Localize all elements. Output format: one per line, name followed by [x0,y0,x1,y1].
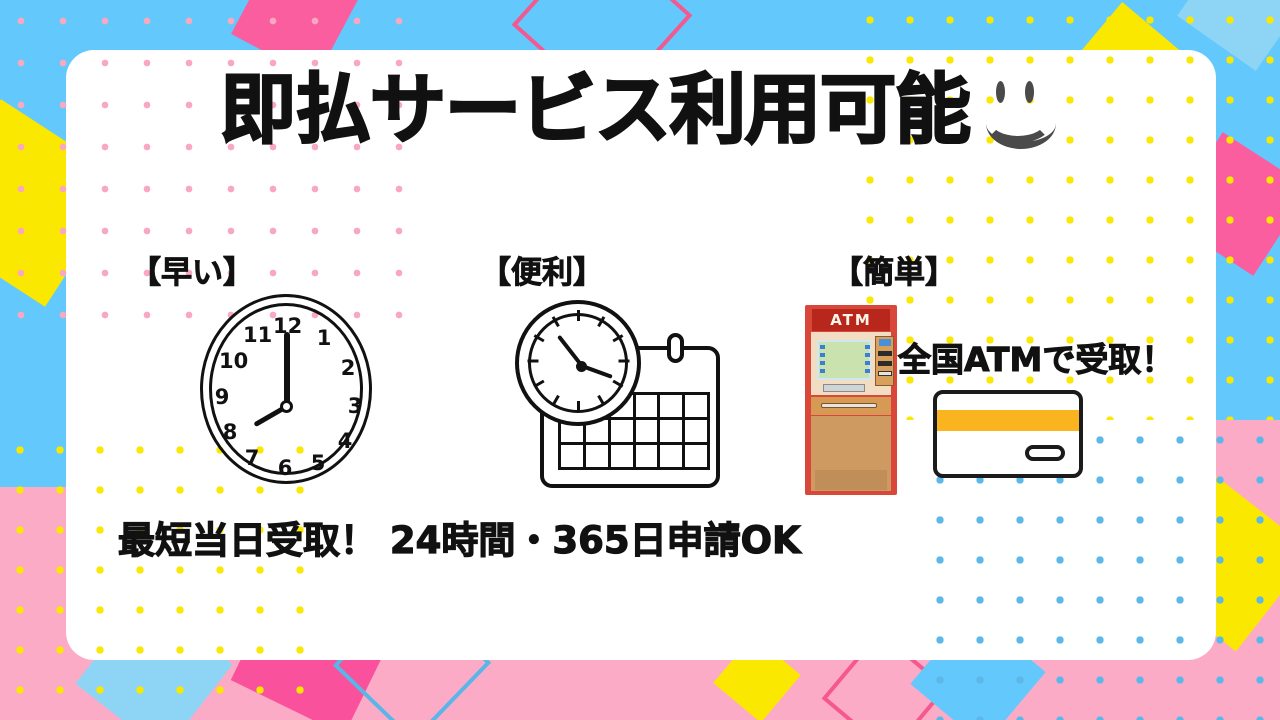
smiley-face-icon [976,75,1060,145]
clock-numeral: 4 [332,429,358,453]
headline-text: 即払サービス利用可能 [220,72,970,148]
clock-numeral: 9 [209,385,235,409]
clock-center-pin [280,400,293,413]
atm-machine-icon: ATM [805,305,897,495]
clock-numeral: 1 [311,326,337,350]
credit-card-magnetic-stripe [937,410,1079,431]
clock-numeral: 7 [239,446,265,470]
atm-screen [817,340,871,380]
atm-card-panel [875,336,894,386]
calendar-clock-center-pin [576,361,587,372]
clock-numeral: 8 [217,420,243,444]
tagline: 最短当日受取！ 24時間・365日申請OK [118,510,801,564]
clock-numeral: 11 [243,323,269,347]
clock-minute-hand [284,332,290,406]
calendar-ring-tab [667,333,684,363]
atm-caption: 全国ATMで受取！ [898,333,1174,381]
feature-label-fast: 【早い】 [130,247,254,292]
atm-sign-text: ATM [830,311,872,329]
clock-numeral: 5 [305,451,331,475]
credit-card-icon [933,390,1083,478]
atm-sign: ATM [812,309,890,331]
clock-numeral: 6 [272,456,298,480]
banner-stage: 即払サービス利用可能 【早い】 【便利】 【簡単】 12 1 2 3 4 5 6… [0,0,1280,720]
atm-cash-slot [821,403,877,408]
analog-clock-icon: 12 1 2 3 4 5 6 7 8 9 10 11 [198,290,378,490]
calendar-clock-icon [515,300,730,495]
headline: 即払サービス利用可能 [0,72,1280,148]
clock-numeral: 10 [219,349,245,373]
clock-numeral: 2 [335,356,361,380]
calendar-clock-face [515,300,641,426]
clock-numeral: 3 [342,394,368,418]
credit-card-signature-box [1025,445,1065,461]
feature-label-convenient: 【便利】 [480,247,604,292]
atm-keypad [823,384,865,392]
feature-label-easy: 【簡単】 [832,247,956,292]
